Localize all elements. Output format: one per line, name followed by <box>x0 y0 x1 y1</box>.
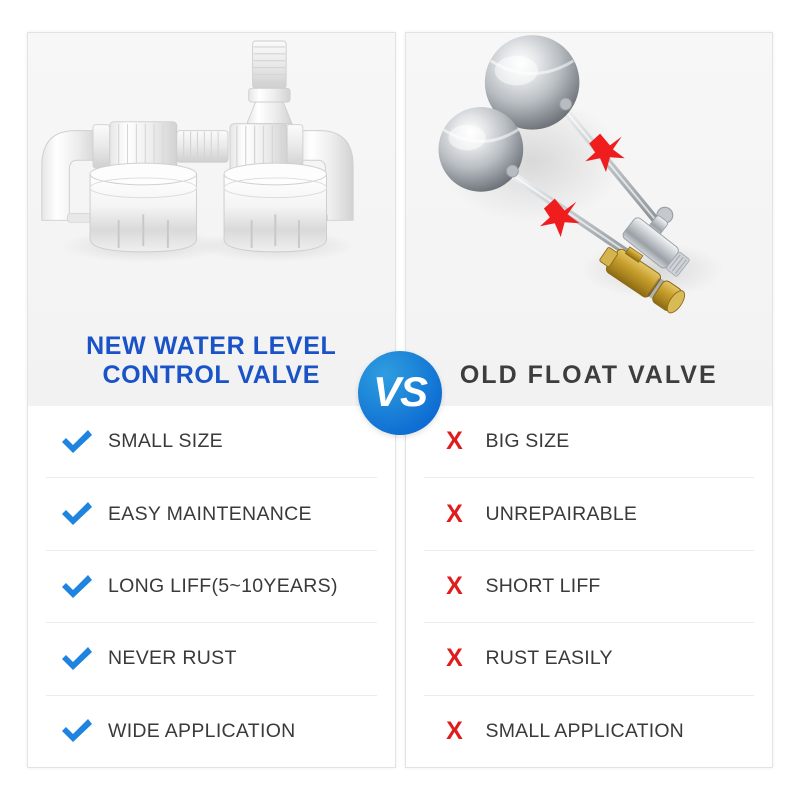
list-item[interactable]: X SMALL APPLICATION <box>424 695 755 767</box>
feature-list-new-valve: SMALL SIZE EASY MAINTENANCE <box>28 406 395 767</box>
cross-icon-glyph: X <box>446 429 463 454</box>
cross-icon-glyph: X <box>446 502 463 527</box>
panel-title-line-1: NEW WATER LEVEL <box>28 332 395 361</box>
panel-title-line-1: OLD FLOAT VALVE <box>406 361 773 390</box>
list-item-label: UNREPAIRABLE <box>486 503 638 526</box>
check-icon <box>46 501 108 527</box>
list-item[interactable]: X UNREPAIRABLE <box>424 477 755 549</box>
list-item-label: EASY MAINTENANCE <box>108 503 312 526</box>
cross-icon: X <box>424 646 486 671</box>
list-item[interactable]: SMALL SIZE <box>46 406 377 477</box>
panel-title-line-2: CONTROL VALVE <box>28 361 395 390</box>
panel-title-old-valve: OLD FLOAT VALVE <box>406 361 773 390</box>
cross-icon: X <box>424 429 486 454</box>
panel-old-valve: OLD FLOAT VALVE X BIG SIZE X UNREPAIRABL… <box>405 32 774 768</box>
list-item-label: SHORT LIFF <box>486 575 601 598</box>
feature-list-old-valve: X BIG SIZE X UNREPAIRABLE X SHORT LIFF <box>406 406 773 767</box>
list-item-label: BIG SIZE <box>486 430 570 453</box>
list-item[interactable]: NEVER RUST <box>46 622 377 694</box>
list-item-label: WIDE APPLICATION <box>108 720 296 743</box>
list-item-label: LONG LIFF(5~10YEARS) <box>108 575 338 598</box>
vs-badge-icon: VS <box>358 351 442 435</box>
list-item-label: SMALL APPLICATION <box>486 720 684 743</box>
list-item-label: RUST EASILY <box>486 647 613 670</box>
panel-title-new-valve: NEW WATER LEVEL CONTROL VALVE <box>28 332 395 390</box>
list-item[interactable]: WIDE APPLICATION <box>46 695 377 767</box>
cross-icon-glyph: X <box>446 719 463 744</box>
vs-badge-label: VS <box>373 371 427 413</box>
white-valve-illustration <box>28 33 395 315</box>
check-icon <box>46 718 108 744</box>
check-icon <box>46 646 108 672</box>
cross-icon: X <box>424 502 486 527</box>
hero-new-valve: NEW WATER LEVEL CONTROL VALVE <box>28 33 395 406</box>
panel-new-valve: NEW WATER LEVEL CONTROL VALVE SMALL SIZE <box>27 32 396 768</box>
product-image-new-valve <box>28 33 395 315</box>
list-item[interactable]: EASY MAINTENANCE <box>46 477 377 549</box>
check-icon <box>46 574 108 600</box>
list-item[interactable]: LONG LIFF(5~10YEARS) <box>46 550 377 622</box>
cross-icon: X <box>424 574 486 599</box>
cross-icon-glyph: X <box>446 646 463 671</box>
float-valve-illustration <box>406 33 773 315</box>
list-item-label: SMALL SIZE <box>108 430 223 453</box>
list-item[interactable]: X BIG SIZE <box>424 406 755 477</box>
list-item[interactable]: X RUST EASILY <box>424 622 755 694</box>
list-item[interactable]: X SHORT LIFF <box>424 550 755 622</box>
list-item-label: NEVER RUST <box>108 647 237 670</box>
hero-old-valve: OLD FLOAT VALVE <box>406 33 773 406</box>
check-icon <box>46 429 108 455</box>
cross-icon-glyph: X <box>446 574 463 599</box>
product-image-old-valve <box>406 33 773 315</box>
cross-icon: X <box>424 719 486 744</box>
comparison-infographic: NEW WATER LEVEL CONTROL VALVE SMALL SIZE <box>0 0 800 800</box>
